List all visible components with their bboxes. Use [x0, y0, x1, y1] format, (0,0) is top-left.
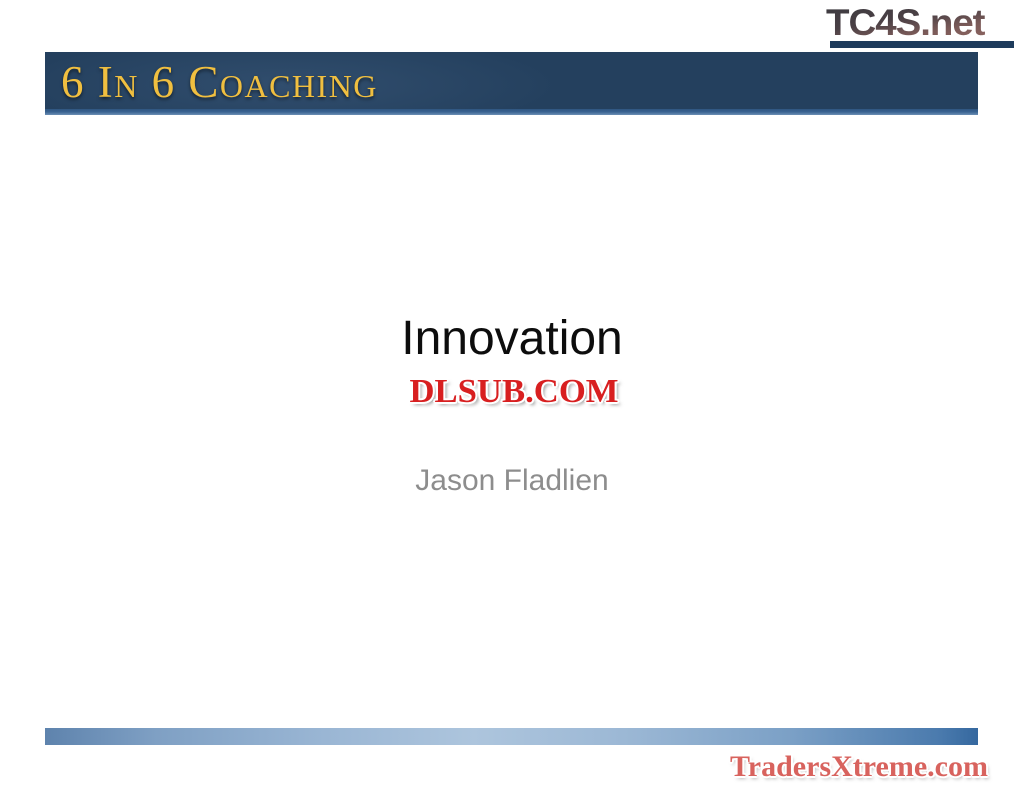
tc4s-logo-underline-rule: [830, 41, 1014, 48]
tc4s-site-logo: TC4S.net: [826, 2, 1024, 44]
banner-title: 6 In 6 Coaching: [61, 55, 378, 109]
slide-title: Innovation: [168, 310, 856, 368]
slide-footer-accent-bar: [45, 728, 978, 745]
dlsub-watermark: DLSUB.COM: [363, 372, 665, 412]
slide-header-banner: 6 In 6 Coaching: [45, 52, 978, 109]
tradersxtreme-watermark: TradersXtreme.com: [700, 748, 1018, 788]
presentation-slide: TC4S.net 6 In 6 Coaching Innovation Jaso…: [0, 0, 1024, 791]
banner-bottom-strip: [45, 109, 978, 115]
